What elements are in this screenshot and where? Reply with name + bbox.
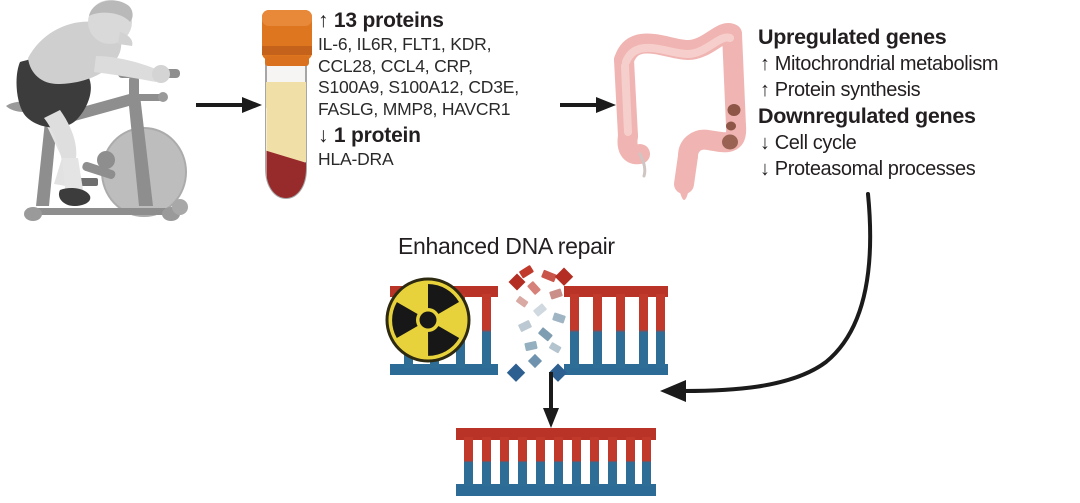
right-rung-5 (656, 294, 665, 368)
repaired-rung-11 (642, 437, 651, 486)
dna-break-fragments (507, 265, 573, 382)
blood-tube-svg (258, 8, 316, 202)
exercise-cyclist-illustration (0, 0, 225, 230)
upregulated-gene-item-1: ↑ Mitochrondrial metabolism (758, 51, 1080, 77)
right-rung-4 (639, 294, 648, 368)
upregulated-gene-item-2: ↑ Protein synthesis (758, 77, 1080, 103)
protein-list-line-2: CCL28, CCL4, CRP, (318, 56, 568, 78)
repaired-rung-2 (482, 437, 491, 486)
protein-list-line-4: FASLG, MMP8, HAVCR1 (318, 99, 568, 121)
neck (118, 32, 132, 46)
tube-cap-ring (262, 46, 312, 55)
repaired-rung-5 (536, 437, 545, 486)
protein-list-line-1: IL-6, IL6R, FLT1, KDR, (318, 34, 568, 56)
arrow-damage-to-repair (540, 372, 562, 428)
left-rung-4 (482, 294, 491, 368)
repaired-rung-10 (626, 437, 635, 486)
arrow-down-svg (540, 372, 562, 428)
right-rung-1 (570, 294, 579, 368)
colon-illustration (604, 14, 760, 206)
hand (152, 65, 170, 83)
polyp-3 (722, 135, 738, 150)
repaired-rung-4 (518, 437, 527, 486)
blood-collection-tube (258, 8, 316, 202)
colon-highlight (625, 37, 730, 132)
repaired-dna-svg (452, 424, 660, 502)
downregulated-gene-item-1: ↓ Cell cycle (758, 130, 1080, 156)
repaired-dna-illustration (452, 424, 660, 502)
repaired-rung-9 (608, 437, 617, 486)
base-foot-left (24, 207, 42, 221)
right-rung-2 (593, 294, 602, 368)
arrow-colon-to-dna (646, 186, 896, 401)
figure-canvas: ↑ 13 proteins IL-6, IL6R, FLT1, KDR, CCL… (0, 0, 1080, 503)
shoe-front (59, 188, 90, 206)
colon-svg (604, 14, 760, 206)
gene-regulation-panel: Upregulated genes ↑ Mitochrondrial metab… (758, 24, 1080, 182)
upregulated-genes-heading: Upregulated genes (758, 24, 1080, 51)
downregulated-gene-item-2: ↓ Proteasomal processes (758, 156, 1080, 182)
damaged-dna-illustration (378, 270, 678, 400)
arm (94, 56, 158, 82)
handlebar-knob (158, 92, 168, 102)
tube-cap-top (262, 10, 312, 26)
downregulated-protein-list-line-1: HLA-DRA (318, 149, 568, 171)
repaired-rung-6 (554, 437, 563, 486)
dna-repair-title: Enhanced DNA repair (398, 232, 615, 260)
plasma-layer (264, 82, 310, 162)
polyp-1 (728, 104, 741, 116)
upregulated-proteins-heading: ↑ 13 proteins (318, 8, 568, 34)
protein-change-panel: ↑ 13 proteins IL-6, IL6R, FLT1, KDR, CCL… (318, 8, 568, 171)
right-rung-3 (616, 294, 625, 368)
bike-base (26, 208, 178, 215)
arrow-right-svg-1 (196, 94, 262, 116)
transport-wheel (172, 199, 188, 215)
downregulated-proteins-heading: ↓ 1 protein (318, 123, 568, 149)
curved-arrow-svg (646, 186, 896, 401)
repaired-rung-8 (590, 437, 599, 486)
repaired-rung-7 (572, 437, 581, 486)
arrow-bike-to-tube (196, 94, 262, 116)
repaired-rung-3 (500, 437, 509, 486)
protein-list-line-3: S100A9, S100A12, CD3E, (318, 77, 568, 99)
dna-fragment-right (564, 286, 668, 375)
polyp-2 (726, 122, 736, 131)
tube-cap-skirt (265, 56, 309, 66)
damaged-dna-svg (378, 270, 678, 400)
downregulated-genes-heading: Downregulated genes (758, 103, 1080, 130)
repaired-rungs (464, 437, 651, 486)
repaired-rung-1 (464, 437, 473, 486)
cyclist-svg (0, 0, 225, 230)
